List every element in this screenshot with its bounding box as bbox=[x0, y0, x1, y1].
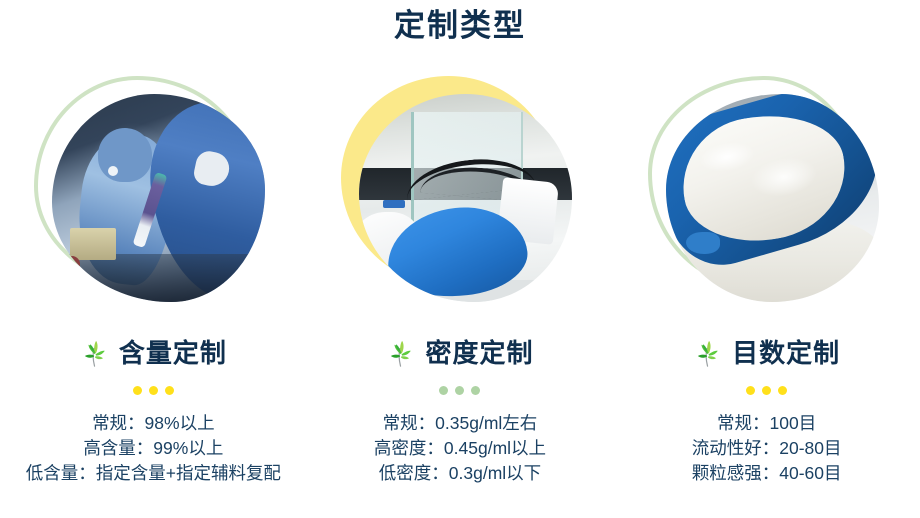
customization-columns: 含量定制 常规：98%以上 高含量：99%以上 低含量：指定含量+指定辅料复配 bbox=[0, 48, 920, 518]
spec-line: 常规：98%以上 bbox=[26, 411, 281, 436]
spec-line: 低密度：0.3g/ml以下 bbox=[374, 461, 546, 486]
dot-separator bbox=[746, 386, 787, 396]
specs-content-customization: 常规：98%以上 高含量：99%以上 低含量：指定含量+指定辅料复配 bbox=[26, 411, 281, 486]
spec-line: 高含量：99%以上 bbox=[26, 436, 281, 461]
column-content-customization: 含量定制 常规：98%以上 高含量：99%以上 低含量：指定含量+指定辅料复配 bbox=[0, 48, 307, 518]
photo-shape bbox=[383, 200, 405, 208]
leaf-sprout-icon bbox=[386, 338, 416, 368]
spec-line: 颗粒感强：40-60目 bbox=[692, 461, 842, 486]
dot bbox=[165, 386, 174, 395]
media-mesh-customization bbox=[642, 76, 892, 321]
page-title: 定制类型 bbox=[0, 0, 920, 48]
column-mesh-customization: 目数定制 常规：100目 流动性好：20-80目 颗粒感强：40-60目 bbox=[613, 48, 920, 518]
dot bbox=[471, 386, 480, 395]
dot bbox=[133, 386, 142, 395]
column-title: 含量定制 bbox=[119, 338, 227, 368]
heading-mesh-customization: 目数定制 bbox=[693, 333, 840, 373]
photo-white-powder-blue-scoop bbox=[666, 94, 879, 302]
leaf-sprout-icon bbox=[693, 338, 723, 368]
media-density-customization bbox=[335, 76, 585, 321]
dot-separator bbox=[439, 386, 480, 396]
dot bbox=[455, 386, 464, 395]
column-density-customization: 密度定制 常规：0.35g/ml左右 高密度：0.45g/ml以上 低密度：0.… bbox=[307, 48, 614, 518]
spec-line: 低含量：指定含量+指定辅料复配 bbox=[26, 461, 281, 486]
dot bbox=[149, 386, 158, 395]
column-title: 目数定制 bbox=[732, 338, 840, 368]
dot-separator bbox=[133, 386, 174, 396]
column-title: 密度定制 bbox=[425, 338, 533, 368]
leaf-sprout-icon bbox=[80, 338, 110, 368]
specs-mesh-customization: 常规：100目 流动性好：20-80目 颗粒感强：40-60目 bbox=[692, 411, 842, 486]
photo-shape bbox=[686, 232, 720, 254]
dot bbox=[439, 386, 448, 395]
specs-density-customization: 常规：0.35g/ml左右 高密度：0.45g/ml以上 低密度：0.3g/ml… bbox=[374, 411, 546, 486]
spec-line: 常规：0.35g/ml左右 bbox=[374, 411, 546, 436]
photo-shape bbox=[52, 254, 265, 302]
heading-density-customization: 密度定制 bbox=[386, 333, 533, 373]
dot bbox=[746, 386, 755, 395]
photo-shape bbox=[98, 128, 152, 182]
spec-line: 高密度：0.45g/ml以上 bbox=[374, 436, 546, 461]
dot bbox=[778, 386, 787, 395]
photo-shape bbox=[70, 228, 116, 260]
spec-line: 常规：100目 bbox=[692, 411, 842, 436]
photo-gloved-hand-fume-hood bbox=[359, 94, 572, 302]
photo-lab-technician-pipetting bbox=[52, 94, 265, 302]
media-content-customization bbox=[28, 76, 278, 321]
dot bbox=[762, 386, 771, 395]
heading-content-customization: 含量定制 bbox=[80, 333, 227, 373]
spec-line: 流动性好：20-80目 bbox=[692, 436, 842, 461]
